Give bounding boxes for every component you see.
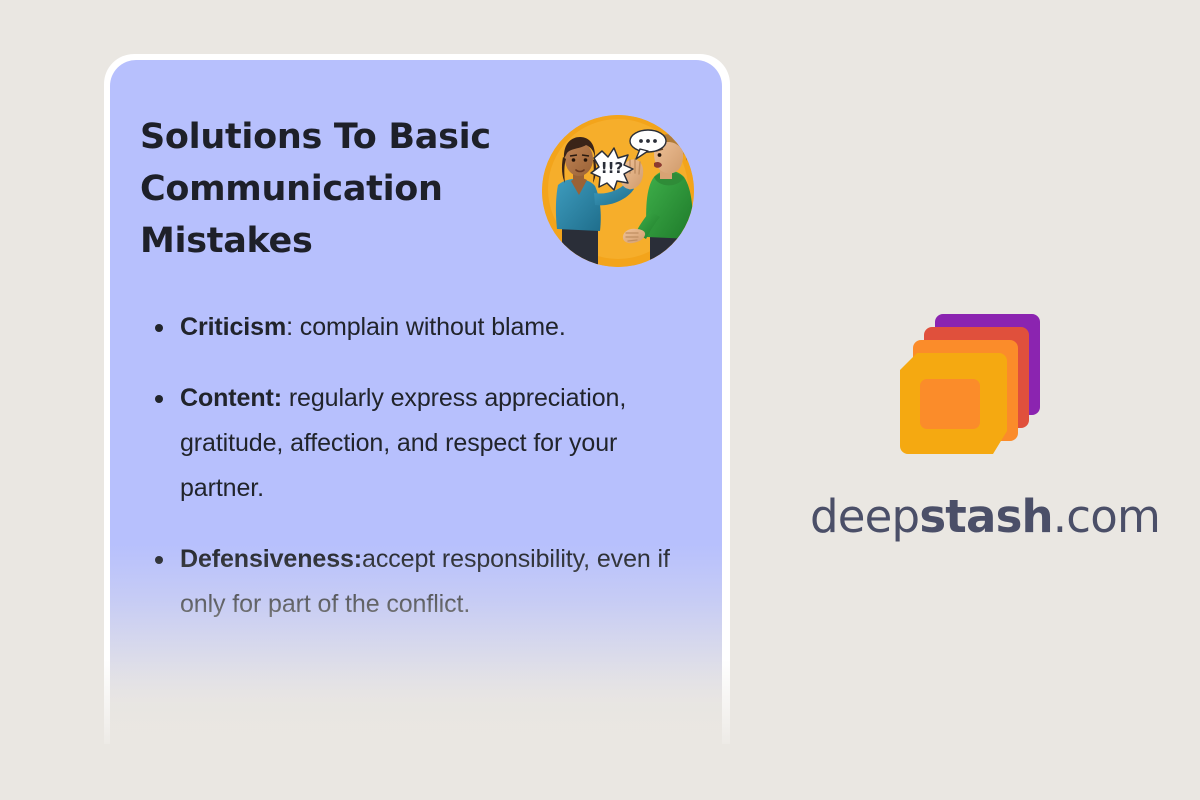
bullet-separator: :: [286, 313, 300, 341]
card-surface: Solutions To Basic Communication Mistake…: [110, 60, 722, 744]
list-item: Criticism: complain without blame.: [154, 305, 704, 350]
svg-text:!!?: !!?: [601, 159, 623, 177]
card-header: Solutions To Basic Communication Mistake…: [110, 60, 722, 267]
wordmark-stash: stash: [919, 490, 1052, 543]
bullet-separator: [282, 384, 289, 412]
list-item: Defensiveness:accept responsibility, eve…: [154, 537, 704, 627]
deepstash-stacked-cards-logo: [894, 310, 1046, 458]
bullet-text: complain without blame.: [300, 313, 566, 341]
wordmark-tld: .com: [1053, 490, 1160, 543]
wordmark-deep: deep: [810, 490, 919, 543]
stash-card[interactable]: Solutions To Basic Communication Mistake…: [104, 54, 730, 744]
deepstash-branding: deepstash.com: [810, 310, 1130, 543]
page-title: Solutions To Basic Communication Mistake…: [140, 112, 530, 267]
list-item: Content: regularly express appreciation,…: [154, 376, 704, 511]
bullet-term: Criticism: [180, 313, 286, 341]
two-people-arguing-illustration: !!?: [542, 115, 694, 267]
deepstash-wordmark: deepstash.com: [810, 490, 1130, 543]
insight-bullet-list: Criticism: complain without blame. Conte…: [110, 267, 722, 627]
bullet-term: Content:: [180, 384, 282, 412]
bullet-term: Defensiveness:: [180, 545, 362, 573]
